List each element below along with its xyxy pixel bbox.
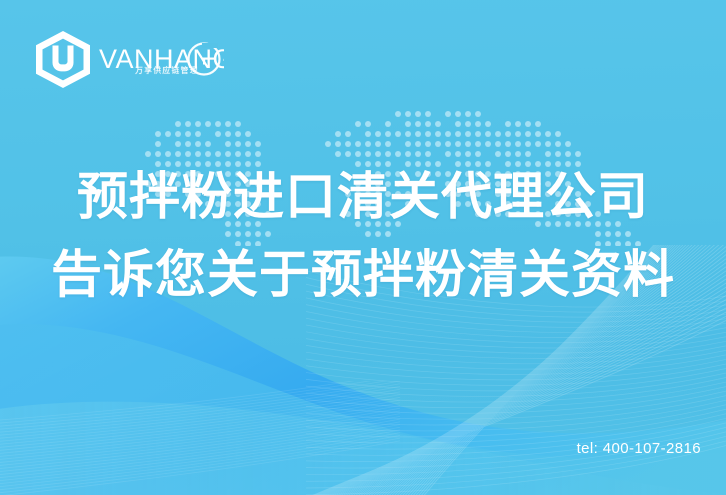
vanhang-hexagon-logo-icon bbox=[36, 31, 90, 88]
brand-logo[interactable]: VANHANG 万享供应链管理 bbox=[36, 31, 224, 88]
page-title: 预拌粉进口清关代理公司 告诉您关于预拌粉清关资料 bbox=[0, 158, 726, 314]
promo-banner: VANHANG 万享供应链管理 预拌粉进口清关代理公司 告诉您关于预拌粉清关资料… bbox=[0, 0, 726, 495]
brand-wordmark: VANHANG 万享供应链管理 bbox=[99, 38, 224, 82]
brand-chinese-subtitle: 万享供应链管理 bbox=[135, 65, 199, 76]
headline-line-2: 告诉您关于预拌粉清关资料 bbox=[0, 236, 726, 314]
contact-telephone[interactable]: tel: 400-107-2816 bbox=[577, 440, 701, 457]
headline-line-1: 预拌粉进口清关代理公司 bbox=[0, 158, 726, 236]
fine-line-striations-left bbox=[0, 381, 400, 495]
